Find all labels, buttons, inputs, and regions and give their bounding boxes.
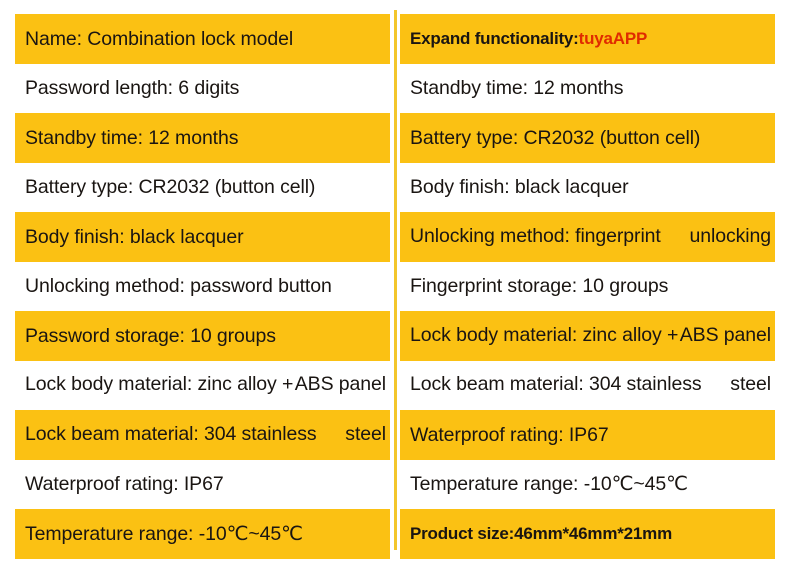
spec-row-line-2: steel [345,423,386,445]
spec-row: Temperature range: -10℃~45℃ [15,509,390,559]
spec-row-text: Lock beam material: 304 stainlesssteel [25,425,386,445]
spec-row: Product size:46mm*46mm*21mm [400,509,775,559]
spec-row-line-2: ABS panel [295,373,386,395]
spec-row: Standby time: 12 months [15,113,390,163]
spec-row-text: Battery type: CR2032 (button cell) [410,128,771,148]
spec-row-text: Temperature range: -10℃~45℃ [25,524,386,544]
product-spec-table: Name: Combination lock modelPassword len… [0,0,790,585]
right-column: Expand functionality:tuyaAPPStandby time… [400,14,775,559]
spec-row: Body finish: black lacquer [15,212,390,262]
spec-row: Waterproof rating: IP67 [15,460,390,510]
spec-row-line-1: Lock body material: zinc alloy + [410,326,678,346]
spec-row-line-1: Lock beam material: 304 stainless [25,425,317,445]
spec-row-text: Unlocking method: fingerprintunlocking [410,227,771,247]
spec-row: Battery type: CR2032 (button cell) [15,163,390,213]
spec-row-text: Fingerprint storage: 10 groups [410,276,771,296]
spec-row-text: Standby time: 12 months [410,78,771,98]
column-divider [394,10,397,550]
spec-row: Battery type: CR2032 (button cell) [400,113,775,163]
spec-row-text: Lock body material: zinc alloy +ABS pane… [25,375,386,395]
spec-row-text: Body finish: black lacquer [410,177,771,197]
spec-row: Password storage: 10 groups [15,311,390,361]
spec-row-text: Lock body material: zinc alloy +ABS pane… [410,326,771,346]
spec-row: Name: Combination lock model [15,14,390,64]
spec-row-text: Temperature range: -10℃~45℃ [410,474,771,494]
spec-row: Expand functionality:tuyaAPP [400,14,775,64]
spec-row-text: Product size:46mm*46mm*21mm [410,525,771,543]
spec-row: Standby time: 12 months [400,64,775,114]
spec-row: Unlocking method: password button [15,262,390,312]
spec-row-text: Body finish: black lacquer [25,227,386,247]
spec-row: Lock beam material: 304 stainlesssteel [15,410,390,460]
spec-row-text: Name: Combination lock model [25,29,386,49]
spec-row-line-2: unlocking [690,225,772,247]
spec-row: Unlocking method: fingerprintunlocking [400,212,775,262]
spec-row: Lock body material: zinc alloy +ABS pane… [15,361,390,411]
spec-row-line-1: Unlocking method: fingerprint [410,227,661,247]
spec-row-text: Password storage: 10 groups [25,326,386,346]
spec-row-text: Password length: 6 digits [25,78,386,98]
spec-row: Lock beam material: 304 stainlesssteel [400,361,775,411]
spec-row: Waterproof rating: IP67 [400,410,775,460]
spec-row-accent-value: tuyaAPP [579,29,648,48]
spec-row-text: Expand functionality:tuyaAPP [410,30,771,48]
spec-row: Password length: 6 digits [15,64,390,114]
spec-row-text: Battery type: CR2032 (button cell) [25,177,386,197]
spec-row-text: Waterproof rating: IP67 [25,474,386,494]
spec-row: Fingerprint storage: 10 groups [400,262,775,312]
spec-row-line-2: ABS panel [680,324,771,346]
spec-row-text: Lock beam material: 304 stainlesssteel [410,375,771,395]
spec-row-text: Waterproof rating: IP67 [410,425,771,445]
spec-row-line-1: Lock beam material: 304 stainless [410,375,702,395]
spec-row: Body finish: black lacquer [400,163,775,213]
left-column: Name: Combination lock modelPassword len… [15,14,390,559]
spec-row: Lock body material: zinc alloy +ABS pane… [400,311,775,361]
spec-row-text: Unlocking method: password button [25,276,386,296]
spec-row: Temperature range: -10℃~45℃ [400,460,775,510]
spec-row-line-2: steel [730,373,771,395]
spec-row-label: Expand functionality: [410,29,579,48]
spec-row-line-1: Lock body material: zinc alloy + [25,375,293,395]
spec-row-text: Standby time: 12 months [25,128,386,148]
